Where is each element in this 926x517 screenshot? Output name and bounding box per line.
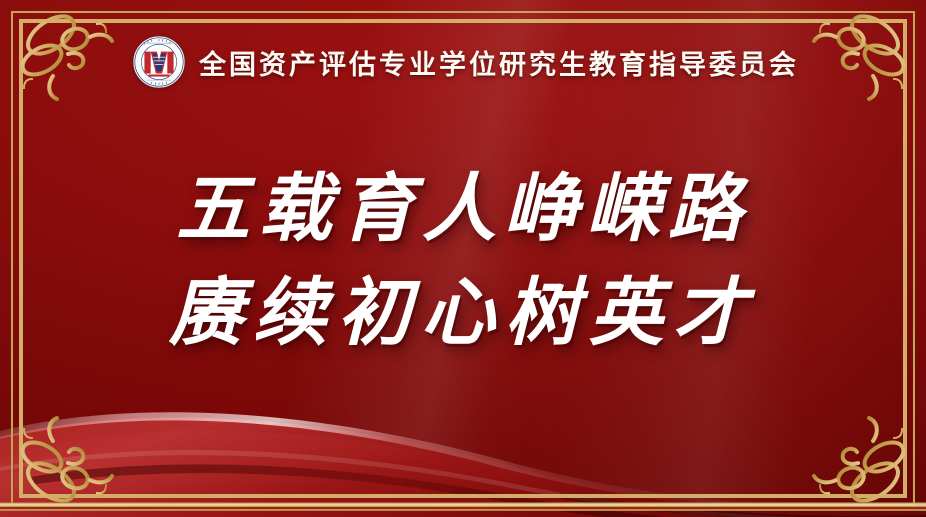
gold-bottom-rule-icon <box>0 502 926 511</box>
slogan-block: 五载育人峥嵘路 赓续初心树英才 <box>0 158 926 366</box>
organization-name: 全国资产评估专业学位研究生教育指导委员会 <box>199 43 799 82</box>
slogan-line-2: 赓续初心树英才 <box>0 262 926 366</box>
organization-seal-icon <box>133 36 185 88</box>
poster-header: 全国资产评估专业学位研究生教育指导委员会 <box>0 36 926 88</box>
poster-canvas: 全国资产评估专业学位研究生教育指导委员会 五载育人峥嵘路 赓续初心树英才 <box>0 0 926 517</box>
slogan-line-1: 五载育人峥嵘路 <box>0 158 926 262</box>
